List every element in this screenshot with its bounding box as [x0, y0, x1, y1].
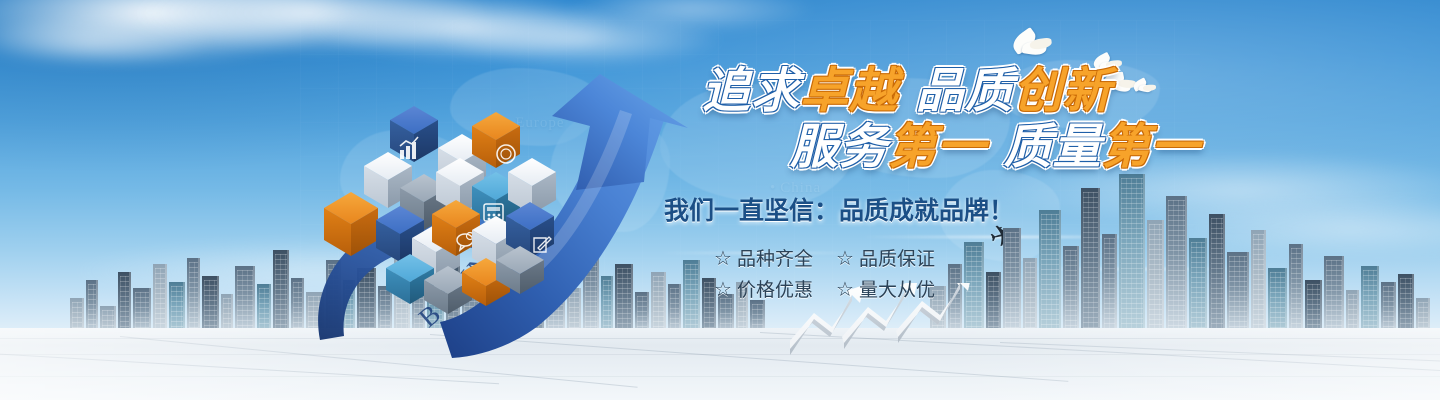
feature-label: 量大从优	[859, 275, 935, 302]
promo-banner: Europe China United States ✈	[0, 0, 1440, 400]
headline-seg-5: 服务	[790, 119, 888, 175]
banner-subtitle: 我们一直坚信：品质成就品牌！	[660, 196, 1220, 226]
headline-seg-4: 创新	[1014, 63, 1112, 119]
plaza-sheen	[0, 328, 1440, 400]
cubelet-orange-floating	[324, 192, 378, 256]
headline-seg-7: 质量	[986, 119, 1102, 175]
feature-label: 价格优惠	[737, 275, 813, 302]
star-icon: ☆	[836, 248, 854, 268]
cubelet-blue-chart	[390, 106, 438, 162]
headline-seg-8: 第一	[1102, 119, 1200, 175]
plaza-floor	[0, 328, 1440, 400]
feature-item: ☆ 价格优惠	[714, 273, 826, 304]
feature-list: ☆ 品种齐全 ☆ 品质保证 ☆ 价格优惠 ☆ 量大从优	[660, 242, 1220, 304]
headline-line-1: 追求卓越 品质创新	[660, 64, 1220, 118]
feature-item: ☆ 品质保证	[836, 242, 948, 273]
star-icon: ☆	[714, 248, 732, 268]
headline-seg-1: 追求	[702, 63, 800, 119]
headline-seg-6: 第一	[888, 119, 986, 175]
feature-item: ☆ 品种齐全	[714, 242, 826, 273]
star-icon: ☆	[836, 279, 854, 299]
headline-seg-2: 卓越	[800, 63, 898, 119]
rubiks-cube-cluster	[320, 96, 580, 326]
banner-copy: 追求卓越 品质创新 服务第一 质量第一 我们一直坚信：品质成就品牌！ ☆ 品种齐…	[660, 64, 1220, 304]
headline-line-2: 服务第一 质量第一	[660, 120, 1220, 174]
headline-seg-3: 品质	[898, 63, 1014, 119]
star-icon: ☆	[714, 279, 732, 299]
feature-item: ☆ 量大从优	[836, 273, 948, 304]
feature-label: 品种齐全	[737, 244, 813, 271]
feature-label: 品质保证	[859, 244, 935, 271]
